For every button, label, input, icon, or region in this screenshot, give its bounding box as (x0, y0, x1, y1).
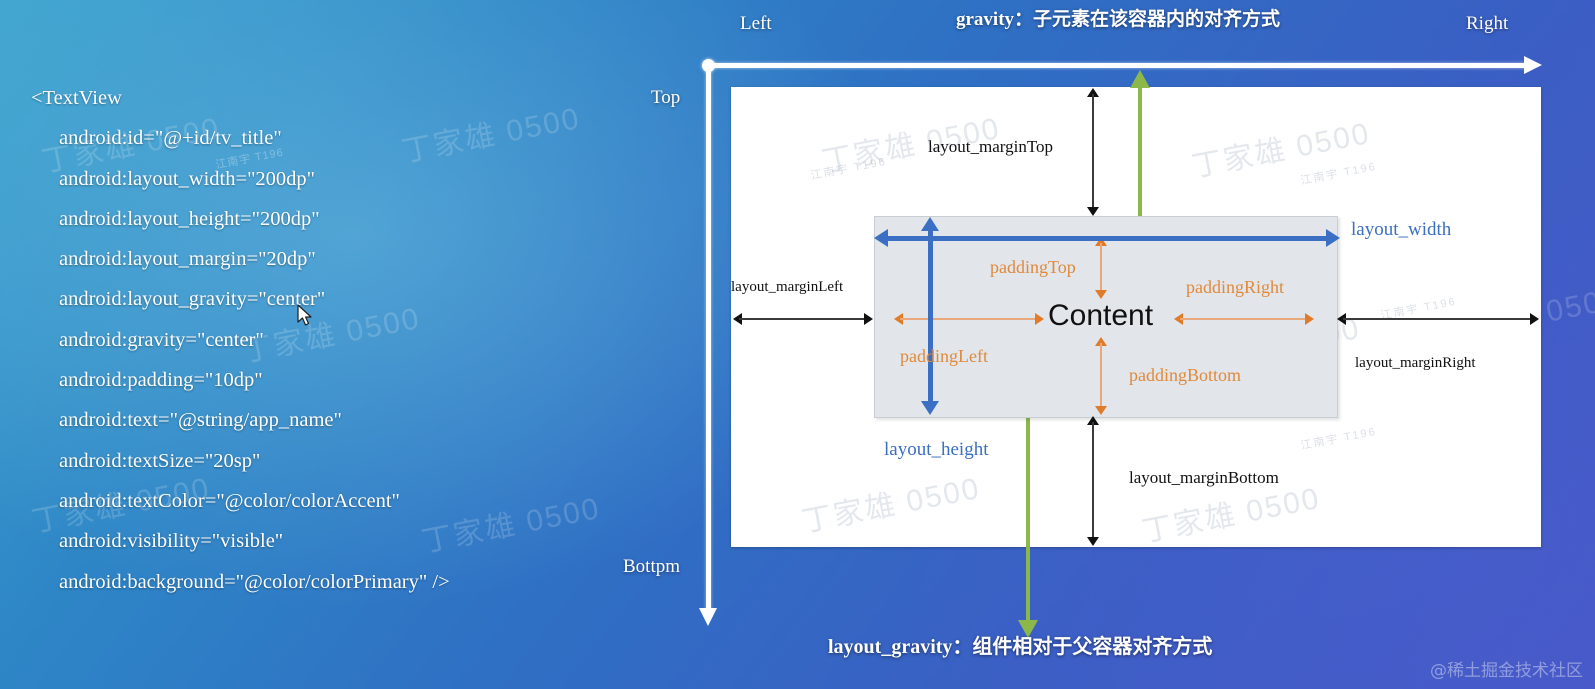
label-padding-left: paddingLeft (900, 346, 988, 367)
label-margin-bottom: layout_marginBottom (1129, 468, 1279, 488)
code-line: android:textColor="@color/colorAccent" (31, 481, 631, 521)
code-line: android:background="@color/colorPrimary"… (31, 562, 631, 602)
code-line: android:visibility="visible" (31, 521, 631, 561)
layout-gravity-annotation: layout_gravity：组件相对于父容器对齐方式 (828, 630, 1212, 659)
label-padding-top: paddingTop (990, 257, 1076, 278)
gravity-annotation-text: 子元素在该容器内的对齐方式 (1033, 8, 1280, 30)
watermark-small: 江南宇 T196 (1299, 423, 1378, 453)
code-line: android:id="@+id/tv_title" (31, 118, 631, 158)
axis-down-arrow-icon (699, 608, 717, 626)
content-label: Content (1048, 299, 1153, 333)
label-margin-left: layout_marginLeft (731, 279, 843, 296)
padding-top-arrow (1100, 237, 1102, 299)
code-line: android:textSize="20sp" (31, 441, 631, 481)
label-margin-right: layout_marginRight (1355, 355, 1476, 372)
layout-height-arrow (929, 217, 931, 415)
gravity-annotation: gravity：子元素在该容器内的对齐方式 (956, 4, 1280, 31)
code-line: android:gravity="center" (31, 320, 631, 360)
watermark: 丁家雄 0500 (1187, 108, 1373, 186)
axis-origin-dot-icon (702, 59, 715, 72)
padding-right-arrow (1174, 318, 1314, 320)
gravity-annotation-key: gravity： (956, 9, 1033, 30)
code-line: android:padding="10dp" (31, 360, 631, 400)
xml-code-block: <TextView android:id="@+id/tv_title" and… (31, 78, 631, 602)
axis-horizontal (708, 63, 1528, 68)
padding-left-arrow (894, 318, 1044, 320)
label-padding-bottom: paddingBottom (1129, 365, 1241, 386)
axis-label-left: Left (740, 13, 772, 35)
layout-gravity-annotation-key: layout_gravity： (828, 636, 972, 658)
watermark-small: 江南宇 T196 (809, 153, 888, 183)
margin-right-arrow (1337, 318, 1539, 320)
label-layout-height: layout_height (884, 439, 988, 461)
gravity-line-bottom (1026, 392, 1030, 625)
margin-top-arrow (1092, 88, 1094, 216)
watermark: 丁家雄 0500 (797, 463, 983, 541)
code-line: android:layout_gravity="center" (31, 279, 631, 319)
code-line: android:layout_height="200dp" (31, 199, 631, 239)
code-line: <TextView (31, 78, 631, 118)
margin-left-arrow (733, 318, 873, 320)
layout-width-arrow (874, 237, 1340, 239)
code-line: android:layout_margin="20dp" (31, 239, 631, 279)
padding-bottom-arrow (1100, 337, 1102, 415)
axis-vertical (706, 63, 711, 613)
label-margin-top: layout_marginTop (928, 137, 1053, 157)
axis-label-top: Top (651, 87, 680, 109)
axis-label-bottom: Bottpm (623, 556, 680, 578)
code-line: android:layout_width="200dp" (31, 159, 631, 199)
watermark-small: 江南宇 T196 (1299, 158, 1378, 188)
axis-right-arrow-icon (1524, 56, 1542, 74)
axis-label-right: Right (1466, 13, 1508, 35)
margin-bottom-arrow (1092, 416, 1094, 546)
mouse-cursor-icon (297, 304, 315, 328)
label-padding-right: paddingRight (1186, 277, 1284, 298)
label-layout-width: layout_width (1351, 219, 1451, 241)
corner-watermark: @稀土掘金技术社区 (1430, 656, 1583, 681)
code-line: android:text="@string/app_name" (31, 400, 631, 440)
layout-gravity-annotation-text: 组件相对于父容器对齐方式 (972, 634, 1212, 658)
